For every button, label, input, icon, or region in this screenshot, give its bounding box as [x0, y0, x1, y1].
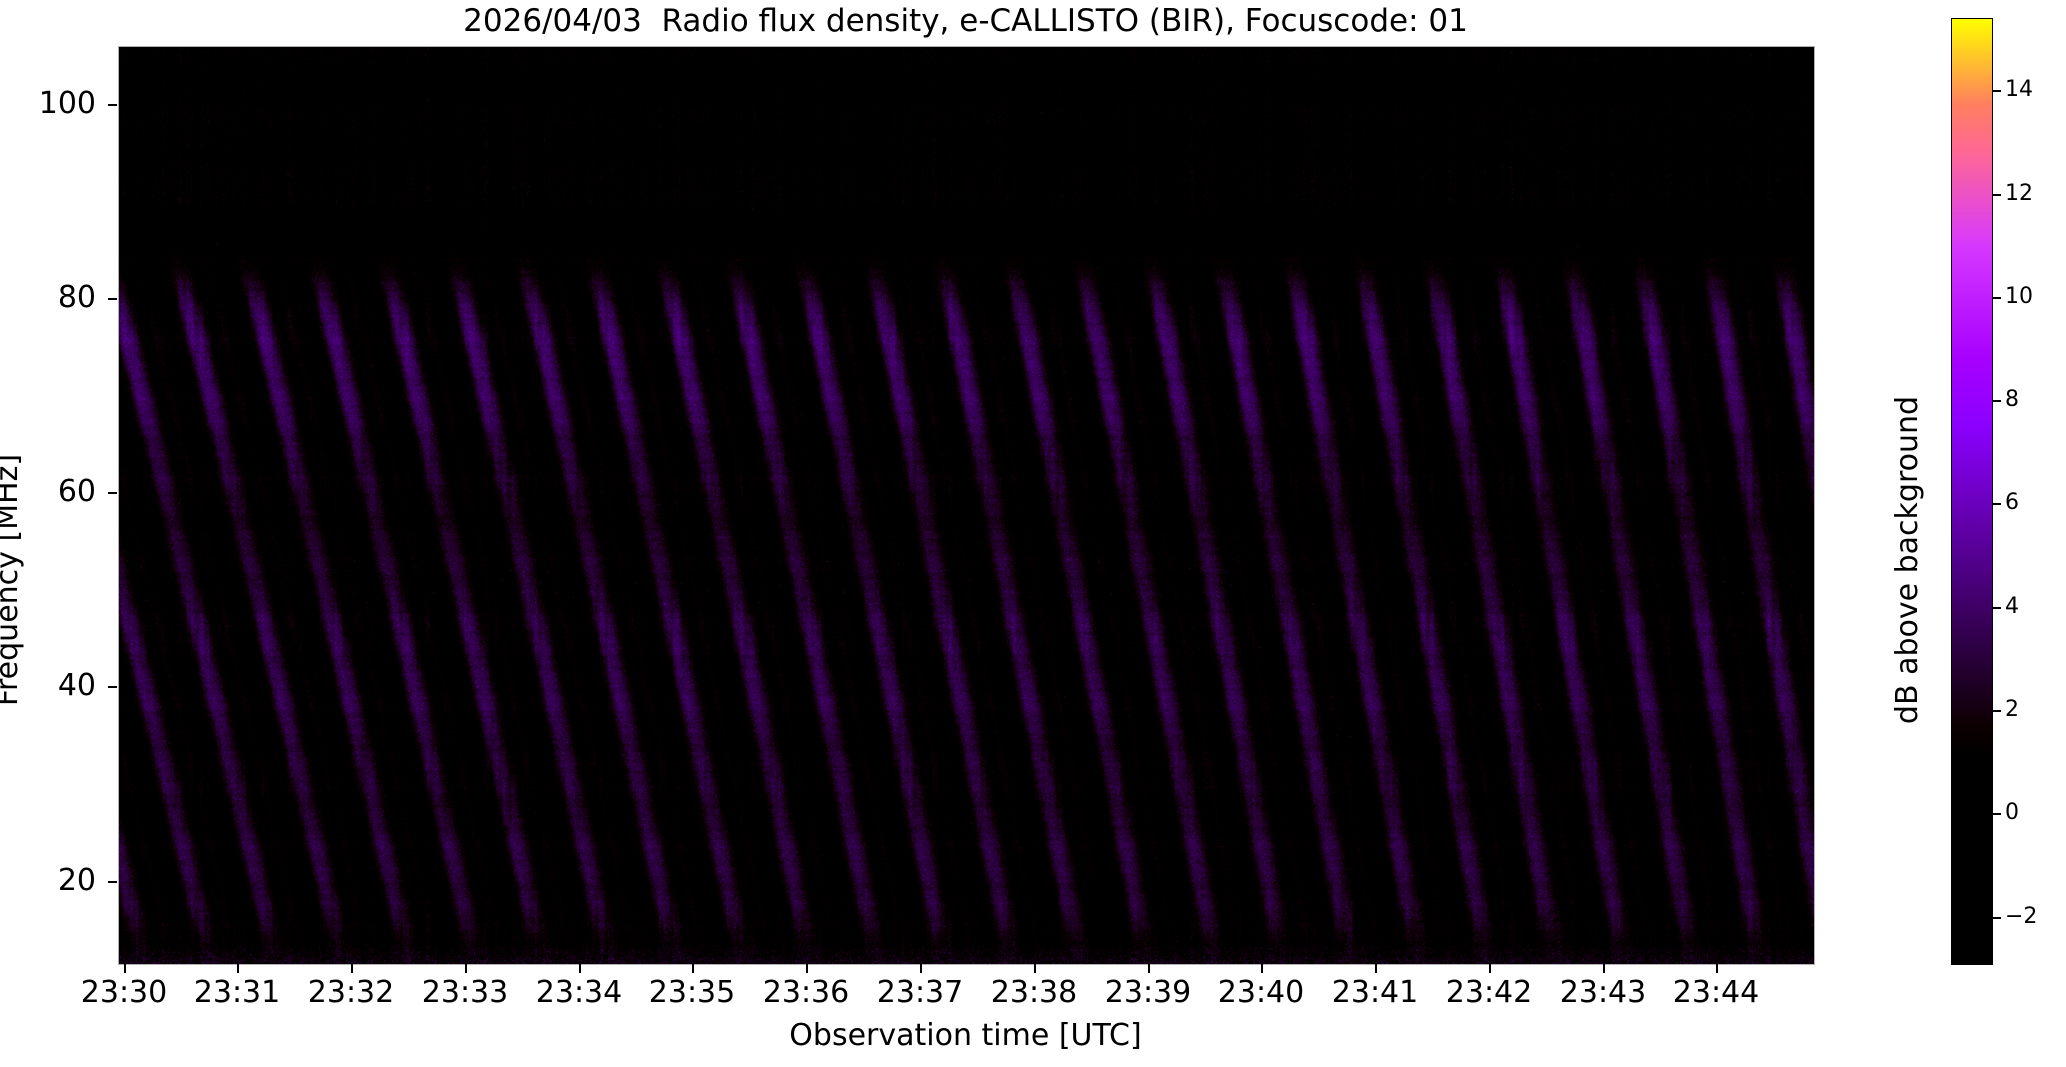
x-tick-mark	[1716, 964, 1718, 973]
y-tick-mark	[108, 881, 117, 883]
colorbar-tick-label: 6	[2005, 492, 2066, 514]
colorbar-tick-mark	[1993, 917, 2001, 919]
colorbar[interactable]	[1951, 18, 1993, 965]
colorbar-tick-mark	[1993, 400, 2001, 402]
colorbar-tick-label: 4	[2005, 596, 2066, 618]
x-tick-mark	[1034, 964, 1036, 973]
x-tick-mark	[1375, 964, 1377, 973]
colorbar-gradient	[1952, 19, 1992, 964]
colorbar-tick-label: 0	[2005, 802, 2066, 824]
y-tick-label: 60	[0, 477, 96, 507]
colorbar-tick-label: 12	[2005, 183, 2066, 205]
colorbar-tick-label: 14	[2005, 79, 2066, 101]
colorbar-tick-mark	[1993, 710, 2001, 712]
colorbar-tick-mark	[1993, 813, 2001, 815]
x-tick-mark	[351, 964, 353, 973]
y-tick-mark	[108, 298, 117, 300]
x-tick-mark	[579, 964, 581, 973]
colorbar-tick-mark	[1993, 607, 2001, 609]
colorbar-tick-mark	[1993, 297, 2001, 299]
x-tick-label: 23:44	[1646, 977, 1786, 1009]
x-tick-mark	[237, 964, 239, 973]
x-axis-label: Observation time [UTC]	[118, 1018, 1813, 1053]
y-axis-label: Frequency [MHz]	[0, 380, 25, 780]
colorbar-tick-mark	[1993, 503, 2001, 505]
y-tick-mark	[108, 686, 117, 688]
figure-canvas: 2026/04/03 Radio flux density, e-CALLIST…	[0, 0, 2066, 1067]
y-tick-label: 80	[0, 283, 96, 313]
x-tick-mark	[1489, 964, 1491, 973]
colorbar-tick-label: 8	[2005, 389, 2066, 411]
y-tick-mark	[108, 492, 117, 494]
colorbar-label: dB above background	[1890, 330, 1925, 790]
x-tick-mark	[920, 964, 922, 973]
y-tick-label: 100	[0, 89, 96, 119]
x-tick-mark	[1603, 964, 1605, 973]
x-tick-mark	[1148, 964, 1150, 973]
x-tick-mark	[124, 964, 126, 973]
colorbar-tick-mark	[1993, 194, 2001, 196]
spectrogram-axes[interactable]	[118, 46, 1815, 965]
y-tick-label: 40	[0, 671, 96, 701]
colorbar-tick-label: 10	[2005, 286, 2066, 308]
x-tick-mark	[465, 964, 467, 973]
y-tick-label: 20	[0, 866, 96, 896]
y-tick-mark	[108, 104, 117, 106]
page-title: 2026/04/03 Radio flux density, e-CALLIST…	[118, 2, 1813, 40]
x-tick-mark	[692, 964, 694, 973]
x-tick-mark	[806, 964, 808, 973]
spectrogram-image	[119, 47, 1814, 964]
x-tick-mark	[1261, 964, 1263, 973]
colorbar-tick-label: 2	[2005, 699, 2066, 721]
colorbar-tick-mark	[1993, 90, 2001, 92]
colorbar-tick-label: −2	[2005, 906, 2066, 928]
